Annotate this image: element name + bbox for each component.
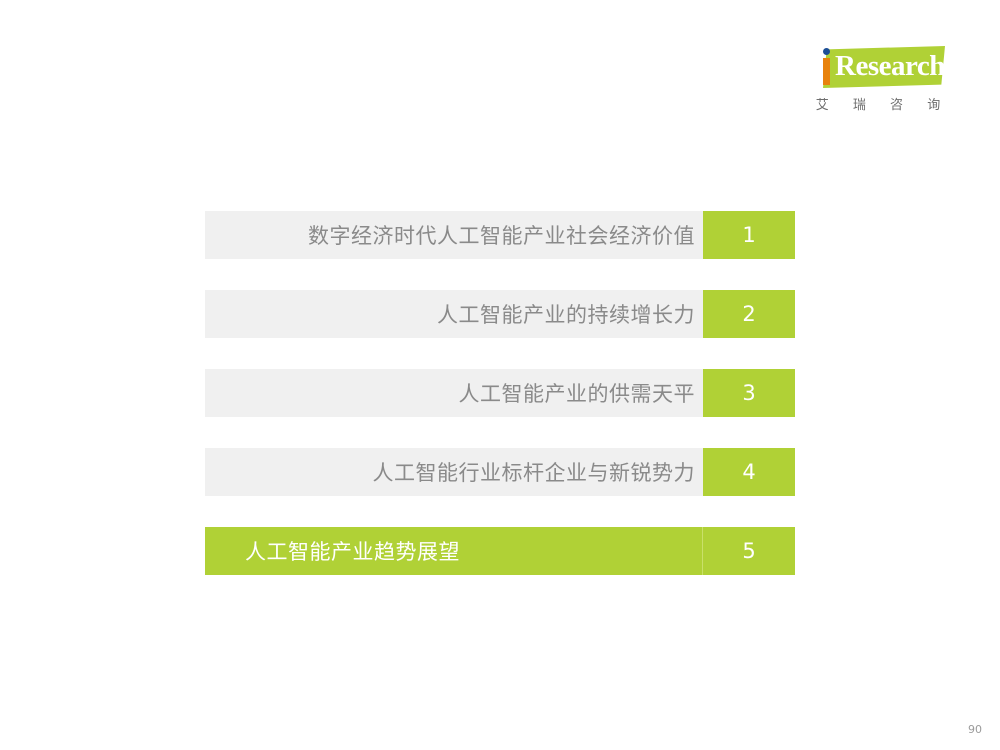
agenda-row-number: 4 (703, 448, 795, 496)
agenda-row-label: 人工智能产业的供需天平 (205, 369, 703, 417)
agenda-row[interactable]: 人工智能产业的供需天平 3 (205, 369, 795, 417)
agenda-row-label: 人工智能产业趋势展望 (205, 527, 702, 575)
logo-subtitle: 艾 瑞 咨 询 (811, 94, 955, 113)
agenda-row-label: 人工智能行业标杆企业与新锐势力 (205, 448, 703, 496)
agenda-row-number: 5 (702, 527, 795, 575)
logo-mark: Research (795, 42, 955, 92)
iresearch-logo: Research 艾 瑞 咨 询 (795, 42, 955, 120)
agenda-row-number: 3 (703, 369, 795, 417)
agenda-list: 数字经济时代人工智能产业社会经济价值 1 人工智能产业的持续增长力 2 人工智能… (205, 211, 795, 575)
agenda-row-number: 2 (703, 290, 795, 338)
agenda-row-active[interactable]: 人工智能产业趋势展望 5 (205, 527, 795, 575)
page-number: 90 (968, 723, 982, 736)
agenda-row[interactable]: 数字经济时代人工智能产业社会经济价值 1 (205, 211, 795, 259)
agenda-row[interactable]: 人工智能产业的持续增长力 2 (205, 290, 795, 338)
agenda-row-number: 1 (703, 211, 795, 259)
logo-wordmark: Research (835, 50, 945, 82)
agenda-row-label: 数字经济时代人工智能产业社会经济价值 (205, 211, 703, 259)
agenda-row-label: 人工智能产业的持续增长力 (205, 290, 703, 338)
logo-i-dot-icon (823, 48, 830, 55)
agenda-row[interactable]: 人工智能行业标杆企业与新锐势力 4 (205, 448, 795, 496)
logo-i-stem-icon (823, 58, 830, 85)
